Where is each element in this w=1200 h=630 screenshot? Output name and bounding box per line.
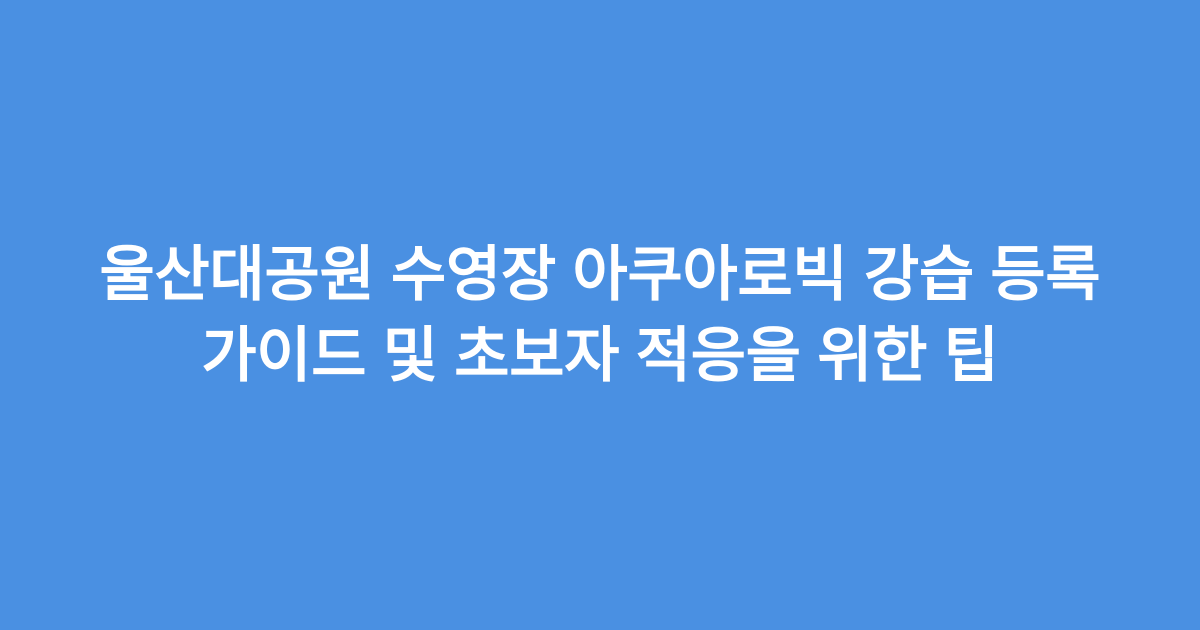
page-title: 울산대공원 수영장 아쿠아로빅 강습 등록 가이드 및 초보자 적응을 위한 팁 — [56, 234, 1144, 396]
og-card: 울산대공원 수영장 아쿠아로빅 강습 등록 가이드 및 초보자 적응을 위한 팁 — [0, 0, 1200, 630]
